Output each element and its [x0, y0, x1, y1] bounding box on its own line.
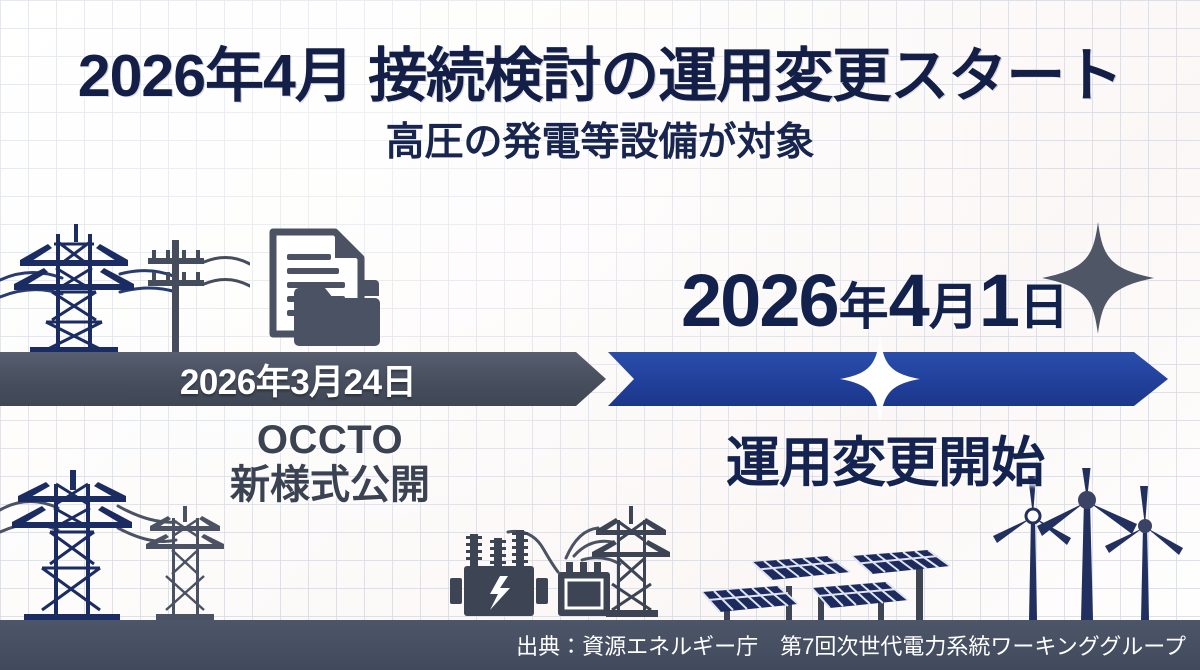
date-year-number: 2026: [681, 266, 838, 336]
left-caption-line2: 新様式公開: [185, 463, 475, 508]
page-subtitle: 高圧の発電等設備が対象: [0, 122, 1200, 165]
date-month-number: 4: [889, 266, 928, 336]
date-month-kanji: 月: [928, 282, 979, 336]
source-credit: 出典：資源エネルギー庁 第7回次世代電力系統ワーキンググループ: [0, 620, 1200, 670]
timeline-date-label: 2026年3月24日: [0, 352, 596, 406]
transmission-tower-icon: [0, 222, 250, 362]
infographic-poster: 2026年4月1日 2026年4月 接続検討の運用変更スタート 高圧の発電等設備…: [0, 0, 1200, 670]
operation-start-date: 2026年4月1日: [640, 252, 1110, 336]
date-day-kanji: 日: [1018, 282, 1069, 336]
left-caption-line1: OCCTO: [185, 418, 475, 463]
right-caption: 運用変更開始: [690, 418, 1080, 497]
substation-transformer-icon: [440, 490, 690, 625]
document-folder-icon: [265, 228, 385, 346]
date-day-number: 1: [979, 266, 1018, 336]
date-year-kanji: 年: [838, 282, 889, 336]
sparkle-star-icon: [840, 334, 920, 424]
left-caption: OCCTO 新様式公開: [185, 418, 475, 508]
title-block: 2026年4月 接続検討の運用変更スタート 高圧の発電等設備が対象: [0, 46, 1200, 165]
timeline-banner: 2026年3月24日: [0, 352, 1200, 406]
solar-panel-array-icon: [700, 520, 960, 630]
page-title: 2026年4月 接続検討の運用変更スタート: [0, 46, 1200, 108]
